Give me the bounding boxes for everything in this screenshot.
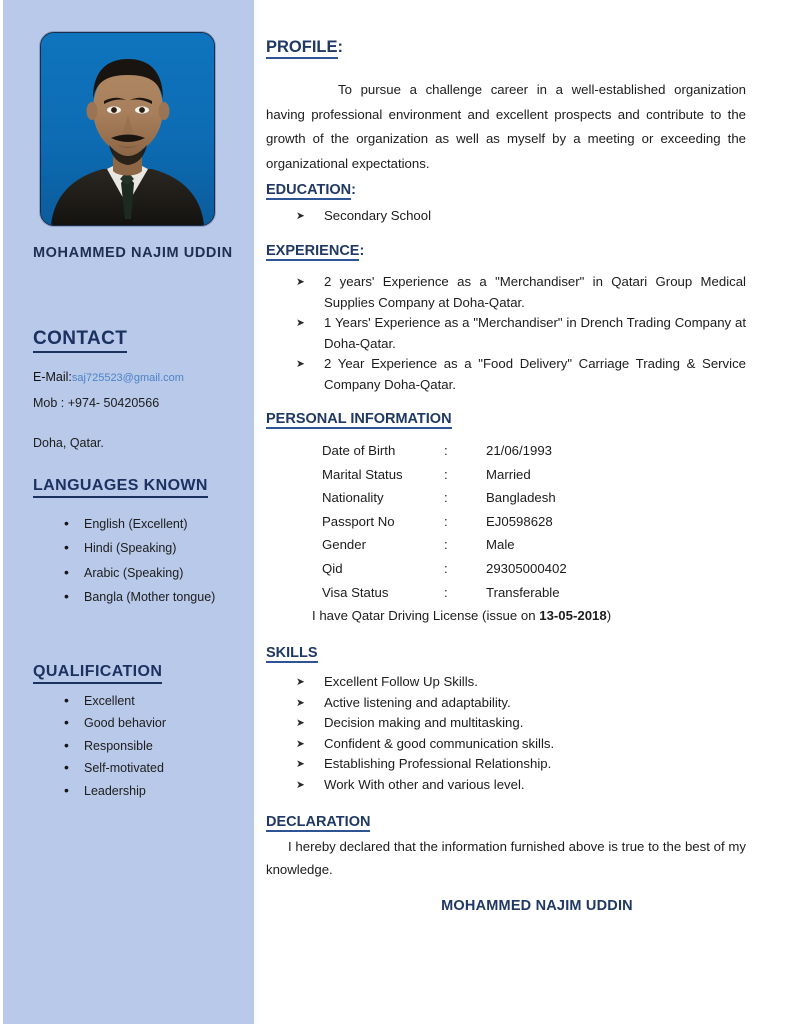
language-label: Bangla (Mother tongue): [84, 590, 215, 604]
profile-heading-text: PROFILE: [266, 38, 338, 59]
table-row: Gender : Male: [322, 533, 567, 557]
pi-value: Married: [486, 463, 567, 487]
resume-page: MOHAMMED NAJIM UDDIN CONTACT E-Mail:saj7…: [0, 0, 791, 1024]
table-row: Qid : 29305000402: [322, 557, 567, 581]
profile-photo: [40, 32, 215, 226]
list-item: Self-motivated: [60, 757, 166, 779]
pi-value: Transferable: [486, 581, 567, 605]
pi-label: Passport No: [322, 510, 444, 534]
languages-list: English (Excellent) Hindi (Speaking) Ara…: [60, 512, 215, 610]
list-item: Confident & good communication skills.: [294, 734, 746, 755]
pi-label: Marital Status: [322, 463, 444, 487]
pi-separator: :: [444, 533, 486, 557]
pi-label: Qid: [322, 557, 444, 581]
sidebar: MOHAMMED NAJIM UDDIN CONTACT E-Mail:saj7…: [0, 0, 254, 1024]
list-item: English (Excellent): [60, 512, 215, 536]
license-suffix: ): [607, 608, 611, 623]
list-item: Good behavior: [60, 712, 166, 734]
profile-text: To pursue a challenge career in a well-e…: [266, 78, 746, 176]
language-label: English (Excellent): [84, 517, 188, 531]
list-item: Active listening and adaptability.: [294, 693, 746, 714]
skills-list: Excellent Follow Up Skills. Active liste…: [294, 672, 746, 795]
pi-label: Nationality: [322, 486, 444, 510]
signature-name: MOHAMMED NAJIM UDDIN: [266, 898, 746, 914]
experience-list: 2 years' Experience as a "Merchandiser" …: [294, 272, 746, 396]
experience-item-label: 2 Year Experience as a "Food Delivery" C…: [324, 356, 746, 392]
experience-item-label: 1 Years' Experience as a "Merchandiser" …: [324, 315, 746, 351]
education-list: Secondary School: [294, 205, 746, 227]
column-divider: [254, 0, 258, 1024]
profile-heading-suffix: :: [338, 38, 344, 56]
pi-value: 21/06/1993: [486, 439, 567, 463]
contact-heading: CONTACT: [33, 328, 127, 353]
pi-separator: :: [444, 510, 486, 534]
education-heading-suffix: :: [351, 182, 356, 198]
list-item: Leadership: [60, 780, 166, 802]
experience-item-label: 2 years' Experience as a "Merchandiser" …: [324, 274, 746, 310]
pi-label: Date of Birth: [322, 439, 444, 463]
skills-heading-text: SKILLS: [266, 645, 318, 663]
skill-label: Establishing Professional Relationship.: [324, 756, 551, 771]
list-item: Bangla (Mother tongue): [60, 585, 215, 609]
language-label: Hindi (Speaking): [84, 541, 176, 555]
list-item: Excellent Follow Up Skills.: [294, 672, 746, 693]
declaration-heading: DECLARATION: [266, 814, 370, 832]
contact-mobile-line: Mob : +974- 50420566: [33, 396, 159, 410]
qualification-label: Leadership: [84, 784, 146, 798]
table-row: Marital Status : Married: [322, 463, 567, 487]
pi-value: Male: [486, 533, 567, 557]
personal-information-table: Date of Birth : 21/06/1993 Marital Statu…: [322, 439, 567, 604]
qualification-list: Excellent Good behavior Responsible Self…: [60, 690, 166, 802]
table-row: Nationality : Bangladesh: [322, 486, 567, 510]
pi-separator: :: [444, 581, 486, 605]
list-item: Decision making and multitasking.: [294, 713, 746, 734]
skill-label: Work With other and various level.: [324, 777, 525, 792]
experience-heading-suffix: :: [359, 243, 364, 259]
portrait-photo-icon: [41, 33, 214, 225]
list-item: 1 Years' Experience as a "Merchandiser" …: [294, 313, 746, 354]
languages-heading: LANGUAGES KNOWN: [33, 477, 208, 498]
list-item: 2 Year Experience as a "Food Delivery" C…: [294, 354, 746, 395]
pi-separator: :: [444, 463, 486, 487]
skill-label: Excellent Follow Up Skills.: [324, 674, 478, 689]
qualification-heading-text: QUALIFICATION: [33, 663, 162, 684]
qualification-label: Excellent: [84, 694, 135, 708]
pi-value: EJ0598628: [486, 510, 567, 534]
qualification-label: Good behavior: [84, 716, 166, 730]
table-row: Passport No : EJ0598628: [322, 510, 567, 534]
language-label: Arabic (Speaking): [84, 566, 183, 580]
experience-heading: EXPERIENCE:: [266, 243, 364, 261]
personal-information-heading: PERSONAL INFORMATION: [266, 411, 452, 429]
pi-separator: :: [444, 439, 486, 463]
table-row: Visa Status : Transferable: [322, 581, 567, 605]
qualification-heading: QUALIFICATION: [33, 663, 162, 684]
pi-separator: :: [444, 557, 486, 581]
sidebar-candidate-name: MOHAMMED NAJIM UDDIN: [33, 243, 238, 264]
skill-label: Confident & good communication skills.: [324, 736, 554, 751]
email-value[interactable]: saj725523@gmail.com: [72, 372, 184, 384]
pi-label: Gender: [322, 533, 444, 557]
education-heading-text: EDUCATION: [266, 182, 351, 200]
main-content: PROFILE: To pursue a challenge career in…: [266, 0, 746, 1024]
list-item: Work With other and various level.: [294, 775, 746, 796]
pi-value: 29305000402: [486, 557, 567, 581]
declaration-text: I hereby declared that the information f…: [266, 835, 746, 881]
license-date: 13-05-2018: [539, 608, 606, 623]
list-item: 2 years' Experience as a "Merchandiser" …: [294, 272, 746, 313]
list-item: Responsible: [60, 735, 166, 757]
license-prefix: I have Qatar Driving License (issue on: [312, 608, 539, 623]
experience-heading-text: EXPERIENCE: [266, 243, 359, 261]
skill-label: Active listening and adaptability.: [324, 695, 511, 710]
qualification-label: Self-motivated: [84, 761, 164, 775]
pi-value: Bangladesh: [486, 486, 567, 510]
list-item: Hindi (Speaking): [60, 536, 215, 560]
languages-heading-text: LANGUAGES KNOWN: [33, 477, 208, 498]
education-item-label: Secondary School: [324, 208, 431, 223]
pi-label: Visa Status: [322, 581, 444, 605]
driving-license-line: I have Qatar Driving License (issue on 1…: [312, 608, 611, 623]
contact-email-line: E-Mail:saj725523@gmail.com: [33, 370, 184, 384]
declaration-heading-text: DECLARATION: [266, 814, 370, 832]
list-item: Excellent: [60, 690, 166, 712]
skills-heading: SKILLS: [266, 645, 318, 663]
sidebar-left-edge: [0, 0, 3, 1024]
personal-information-heading-text: PERSONAL INFORMATION: [266, 411, 452, 429]
email-label: E-Mail:: [33, 370, 72, 384]
education-heading: EDUCATION:: [266, 182, 356, 200]
list-item: Arabic (Speaking): [60, 561, 215, 585]
list-item: Establishing Professional Relationship.: [294, 754, 746, 775]
profile-heading: PROFILE:: [266, 38, 343, 59]
skill-label: Decision making and multitasking.: [324, 715, 523, 730]
contact-heading-text: CONTACT: [33, 328, 127, 353]
qualification-label: Responsible: [84, 739, 153, 753]
table-row: Date of Birth : 21/06/1993: [322, 439, 567, 463]
contact-city-line: Doha, Qatar.: [33, 436, 104, 450]
list-item: Secondary School: [294, 205, 746, 227]
pi-separator: :: [444, 486, 486, 510]
